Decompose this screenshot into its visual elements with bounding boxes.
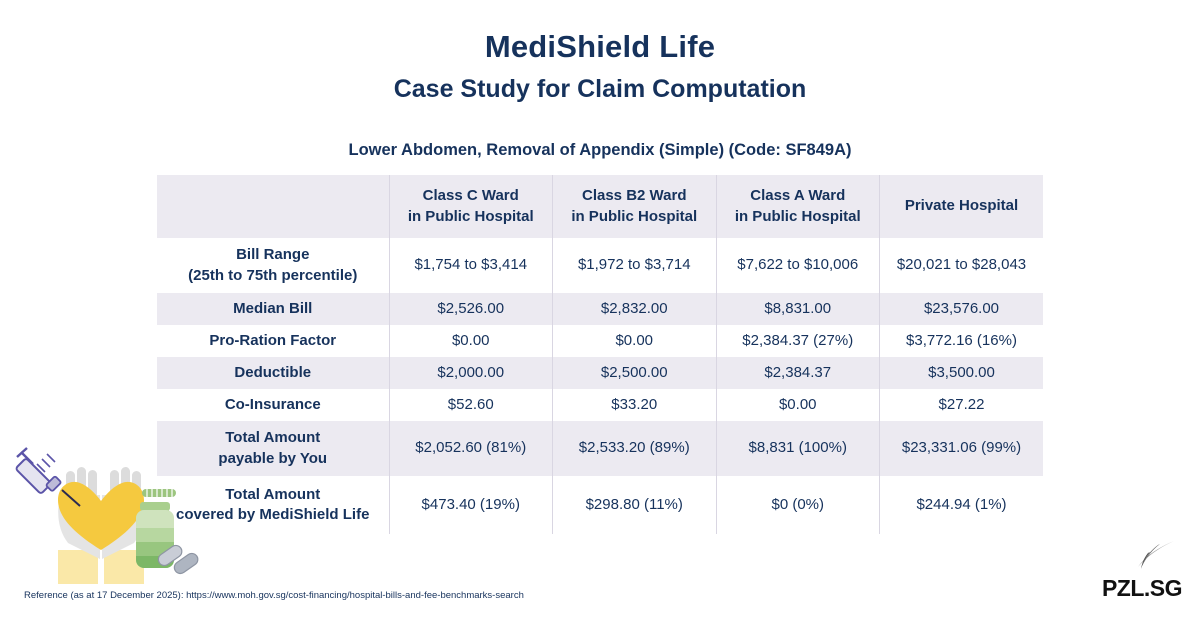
cell-total-payable-class-a: $8,831 (100%): [716, 421, 880, 476]
finger-left-1-icon: [66, 471, 75, 505]
cell-deductible-class-c: $2,000.00: [389, 357, 553, 389]
logo-text: PZL.SG: [1102, 577, 1182, 600]
row-label-pro-ration-factor: Pro-Ration Factor: [157, 325, 389, 357]
palm-left-icon: [58, 495, 100, 559]
sleeve-left-icon: [58, 550, 98, 584]
row-label-line2: (25th to 75th percentile): [188, 267, 357, 284]
cell-bill-range-class-b2: $1,972 to $3,714: [553, 238, 717, 293]
cell-deductible-class-b2: $2,500.00: [553, 357, 717, 389]
finger-right-2-icon: [121, 467, 130, 505]
column-header-line2: in Public Hospital: [735, 208, 861, 225]
cell-total-covered-class-a: $0 (0%): [716, 476, 880, 534]
column-header-private-hospital: Private Hospital: [880, 175, 1044, 238]
claim-computation-table-wrapper: Class C Ward in Public Hospital Class B2…: [157, 175, 1043, 534]
heart-icon: [58, 482, 144, 550]
row-label-bill-range: Bill Range (25th to 75th percentile): [157, 238, 389, 293]
table-row-total-covered-by-medishield: Total Amount covered by MediShield Life …: [157, 476, 1043, 534]
cell-bill-range-private: $20,021 to $28,043: [880, 238, 1044, 293]
row-label-median-bill: Median Bill: [157, 293, 389, 325]
pzl-sg-logo[interactable]: PZL.SG: [1102, 539, 1182, 600]
cell-pro-ration-class-b2: $0.00: [553, 325, 717, 357]
row-label-line2: covered by MediShield Life: [176, 506, 369, 523]
table-header: Class C Ward in Public Hospital Class B2…: [157, 175, 1043, 238]
cell-co-insurance-class-c: $52.60: [389, 389, 553, 421]
column-header-class-a: Class A Ward in Public Hospital: [716, 175, 880, 238]
procedure-heading: Lower Abdomen, Removal of Appendix (Simp…: [0, 141, 1200, 160]
cell-co-insurance-private: $27.22: [880, 389, 1044, 421]
cell-deductible-class-a: $2,384.37: [716, 357, 880, 389]
row-label-total-payable-by-you: Total Amount payable by You: [157, 421, 389, 476]
page-title: MediShield Life: [0, 28, 1200, 67]
cell-pro-ration-private: $3,772.16 (16%): [880, 325, 1044, 357]
column-header-class-b2: Class B2 Ward in Public Hospital: [553, 175, 717, 238]
table-corner-cell: [157, 175, 389, 238]
cell-pro-ration-class-a: $2,384.37 (27%): [716, 325, 880, 357]
cell-bill-range-class-a: $7,622 to $10,006: [716, 238, 880, 293]
column-header-line1: Class A Ward: [750, 187, 845, 204]
cell-total-covered-class-b2: $298.80 (11%): [553, 476, 717, 534]
column-header-line1: Class B2 Ward: [582, 187, 686, 204]
table-header-row: Class C Ward in Public Hospital Class B2…: [157, 175, 1043, 238]
page-header: MediShield Life Case Study for Claim Com…: [0, 0, 1200, 105]
cell-co-insurance-class-b2: $33.20: [553, 389, 717, 421]
page-subtitle: Case Study for Claim Computation: [0, 73, 1200, 106]
row-label-deductible: Deductible: [157, 357, 389, 389]
cell-bill-range-class-c: $1,754 to $3,414: [389, 238, 553, 293]
row-label-line1: Total Amount: [225, 486, 320, 503]
cell-pro-ration-class-c: $0.00: [389, 325, 553, 357]
logo-swoosh-icon: [1112, 539, 1182, 571]
table-row-bill-range: Bill Range (25th to 75th percentile) $1,…: [157, 238, 1043, 293]
table-row-pro-ration-factor: Pro-Ration Factor $0.00 $0.00 $2,384.37 …: [157, 325, 1043, 357]
row-label-line1: Bill Range: [236, 246, 309, 263]
column-header-line2: in Public Hospital: [571, 208, 697, 225]
reference-note: Reference (as at 17 December 2025): http…: [24, 590, 524, 601]
row-label-line1: Total Amount: [225, 429, 320, 446]
claim-computation-table: Class C Ward in Public Hospital Class B2…: [157, 175, 1043, 534]
row-label-total-covered-by-medishield: Total Amount covered by MediShield Life: [157, 476, 389, 534]
syringe-icon: [15, 448, 80, 506]
cell-median-bill-class-b2: $2,832.00: [553, 293, 717, 325]
cell-total-payable-private: $23,331.06 (99%): [880, 421, 1044, 476]
finger-right-3-icon: [132, 471, 141, 505]
palm-right-icon: [102, 495, 144, 559]
cell-total-payable-class-c: $2,052.60 (81%): [389, 421, 553, 476]
cell-total-payable-class-b2: $2,533.20 (89%): [553, 421, 717, 476]
cell-deductible-private: $3,500.00: [880, 357, 1044, 389]
sleeve-right-icon: [104, 550, 144, 584]
table-row-deductible: Deductible $2,000.00 $2,500.00 $2,384.37…: [157, 357, 1043, 389]
finger-left-3-icon: [88, 470, 97, 506]
cell-co-insurance-class-a: $0.00: [716, 389, 880, 421]
column-header-line1: Class C Ward: [423, 187, 519, 204]
cell-median-bill-class-a: $8,831.00: [716, 293, 880, 325]
column-header-class-c: Class C Ward in Public Hospital: [389, 175, 553, 238]
cell-median-bill-private: $23,576.00: [880, 293, 1044, 325]
cell-total-covered-class-c: $473.40 (19%): [389, 476, 553, 534]
cell-median-bill-class-c: $2,526.00: [389, 293, 553, 325]
cell-total-covered-private: $244.94 (1%): [880, 476, 1044, 534]
finger-right-1-icon: [110, 470, 119, 506]
table-row-total-payable-by-you: Total Amount payable by You $2,052.60 (8…: [157, 421, 1043, 476]
capsule-pills-icon: [156, 543, 200, 576]
column-header-line1: Private Hospital: [905, 197, 1018, 214]
row-label-line2: payable by You: [218, 450, 327, 467]
table-row-co-insurance: Co-Insurance $52.60 $33.20 $0.00 $27.22: [157, 389, 1043, 421]
column-header-line2: in Public Hospital: [408, 208, 534, 225]
finger-left-2-icon: [77, 467, 86, 505]
row-label-co-insurance: Co-Insurance: [157, 389, 389, 421]
table-row-median-bill: Median Bill $2,526.00 $2,832.00 $8,831.0…: [157, 293, 1043, 325]
table-body: Bill Range (25th to 75th percentile) $1,…: [157, 238, 1043, 534]
